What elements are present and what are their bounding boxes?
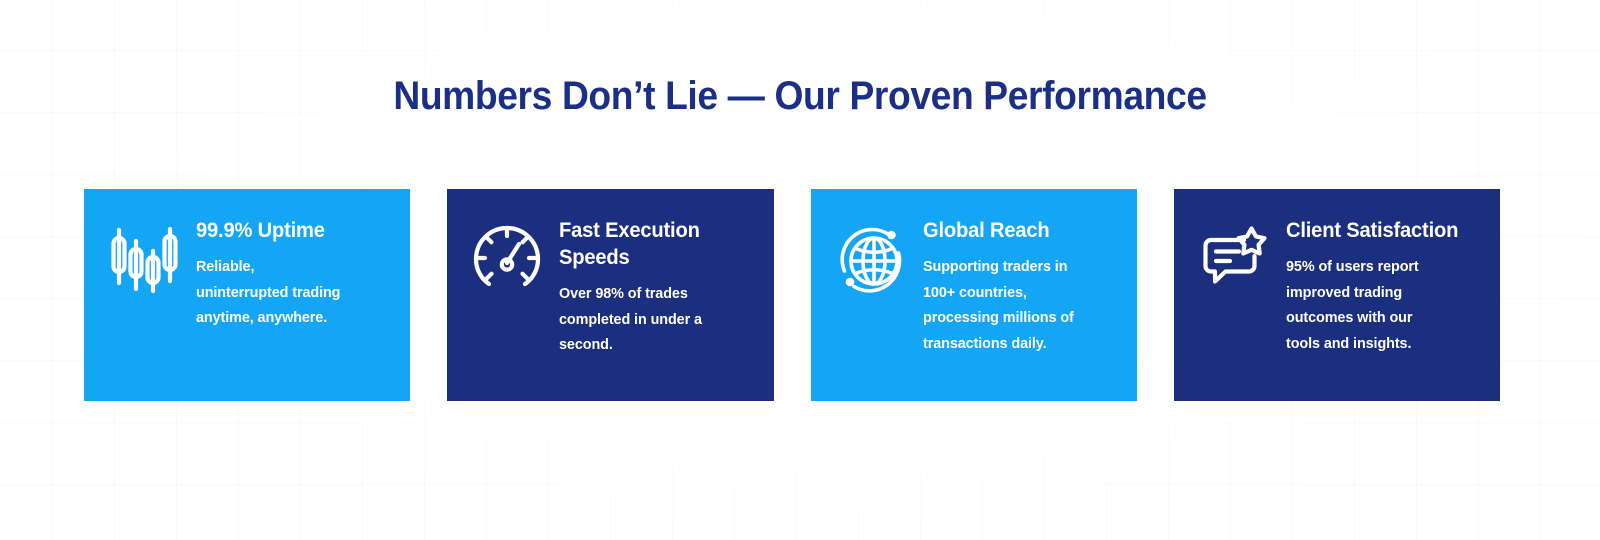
card-body-line: second.	[559, 332, 744, 358]
stat-card-execution-speed[interactable]: Fast Execution Speeds Over 98% of trades…	[447, 189, 773, 401]
card-title: Global Reach	[923, 217, 1108, 244]
card-body-line: tools and insights.	[1286, 331, 1471, 357]
stats-card-row: 99.9% Uptime Reliable, uninterrupted tra…	[84, 189, 1500, 401]
card-text-block: Client Satisfaction 95% of users report …	[1286, 215, 1478, 356]
globe-network-icon	[835, 223, 907, 295]
card-body-line: uninterrupted trading	[196, 280, 381, 306]
stat-card-client-satisfaction[interactable]: Client Satisfaction 95% of users report …	[1174, 189, 1500, 401]
card-title: Client Satisfaction	[1286, 217, 1471, 244]
chat-star-icon	[1198, 223, 1270, 295]
stat-card-uptime[interactable]: 99.9% Uptime Reliable, uninterrupted tra…	[84, 189, 410, 401]
card-title: Fast Execution Speeds	[559, 217, 744, 271]
card-body-line: 100+ countries,	[923, 280, 1108, 306]
card-title: 99.9% Uptime	[196, 217, 381, 244]
stat-card-global-reach[interactable]: Global Reach Supporting traders in 100+ …	[811, 189, 1137, 401]
card-body: Supporting traders in 100+ countries, pr…	[923, 254, 1108, 356]
card-body-line: transactions daily.	[923, 331, 1108, 357]
card-body-line: 95% of users report	[1286, 254, 1471, 280]
card-body-line: processing millions of	[923, 305, 1108, 331]
stats-section: Numbers Don’t Lie — Our Proven Performan…	[0, 0, 1600, 540]
candlestick-chart-icon	[108, 223, 180, 295]
card-body-line: completed in under a	[559, 307, 744, 333]
card-body-line: Over 98% of trades	[559, 281, 744, 307]
card-body: 95% of users report improved trading out…	[1286, 254, 1471, 356]
speedometer-icon	[471, 223, 543, 295]
page-title: Numbers Don’t Lie — Our Proven Performan…	[56, 70, 1544, 122]
card-body: Over 98% of trades completed in under a …	[559, 281, 744, 358]
card-body-line: anytime, anywhere.	[196, 305, 381, 331]
card-body: Reliable, uninterrupted trading anytime,…	[196, 254, 381, 331]
card-body-line: outcomes with our	[1286, 305, 1471, 331]
card-body-line: Supporting traders in	[923, 254, 1108, 280]
card-text-block: Global Reach Supporting traders in 100+ …	[923, 215, 1115, 356]
card-body-line: improved trading	[1286, 280, 1471, 306]
card-text-block: 99.9% Uptime Reliable, uninterrupted tra…	[196, 215, 388, 331]
card-text-block: Fast Execution Speeds Over 98% of trades…	[559, 215, 751, 358]
card-body-line: Reliable,	[196, 254, 381, 280]
